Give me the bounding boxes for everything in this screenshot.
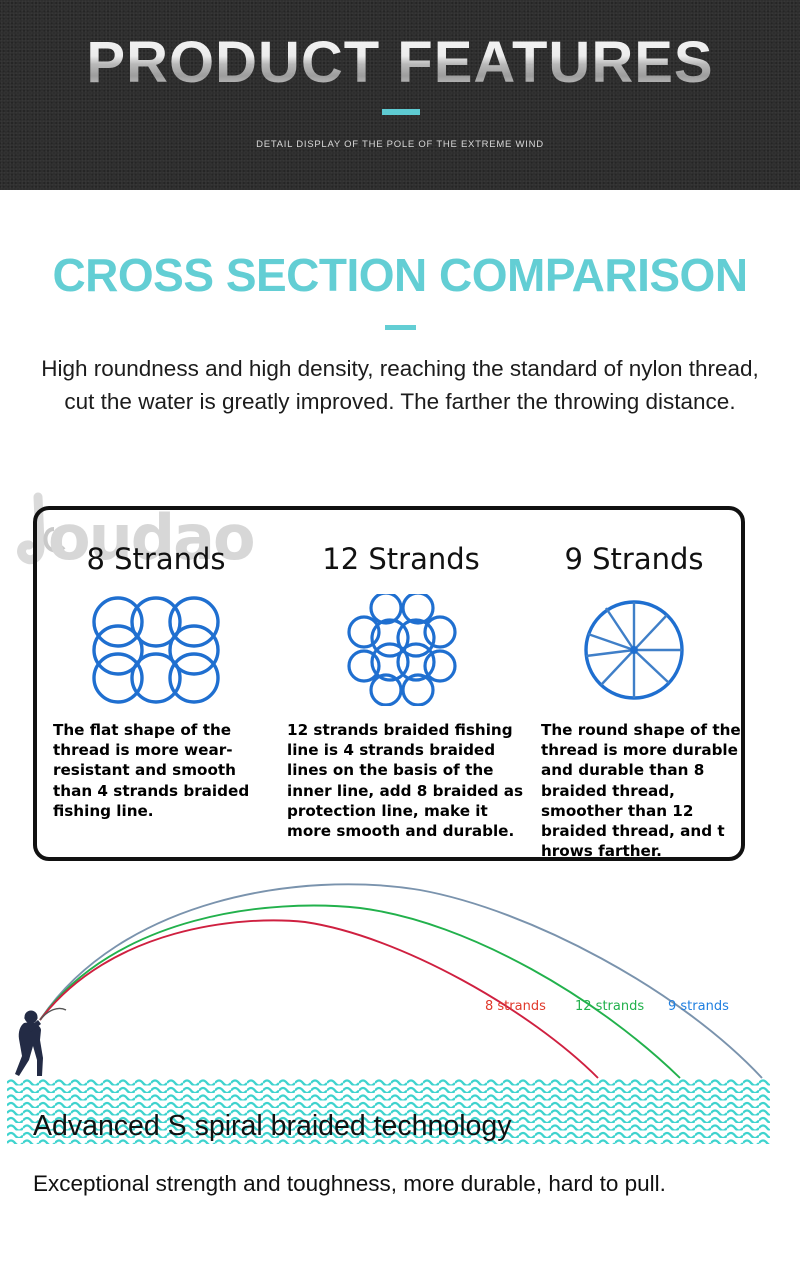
panel-8-strands: 8 Strands The flat shape of the thread i… bbox=[37, 510, 275, 857]
section-description: High roundness and high density, reachin… bbox=[40, 352, 760, 418]
cross-section-comparison-box: 8 Strands The flat shape of the thread i… bbox=[33, 506, 745, 861]
product-feature-page: PRODUCT FEATURES DETAIL DISPLAY OF THE P… bbox=[0, 0, 800, 1265]
page-title: PRODUCT FEATURES bbox=[0, 34, 800, 92]
panel-9-strands: 9 Strands bbox=[527, 510, 741, 857]
header-subtitle: DETAIL DISPLAY OF THE POLE OF THE EXTREM… bbox=[0, 139, 800, 150]
panel-text-9-strands: The round shape of the thread is more du… bbox=[541, 720, 741, 861]
panel-text-12-strands: 12 strands braided fishing line is 4 str… bbox=[287, 720, 525, 841]
page-header: PRODUCT FEATURES DETAIL DISPLAY OF THE P… bbox=[0, 0, 800, 190]
casting-distance-chart bbox=[0, 860, 800, 1100]
nine-strand-spoke-icon bbox=[527, 594, 741, 711]
eight-strand-grid-icon bbox=[37, 594, 275, 711]
section-divider bbox=[385, 325, 416, 330]
legend-12-strands: 12 strands bbox=[575, 999, 644, 1014]
curve-12-strands bbox=[40, 906, 680, 1078]
curve-9-strands bbox=[40, 884, 762, 1078]
header-divider bbox=[382, 109, 420, 115]
panel-title-8-strands: 8 Strands bbox=[37, 542, 275, 576]
panel-title-12-strands: 12 Strands bbox=[275, 542, 527, 576]
legend-8-strands: 8 strands bbox=[485, 999, 546, 1014]
panel-text-8-strands: The flat shape of the thread is more wea… bbox=[53, 720, 263, 821]
panel-12-strands: 12 Strands 12 strands braided fishing li… bbox=[275, 510, 527, 857]
footer-description: Exceptional strength and toughness, more… bbox=[33, 1160, 778, 1208]
fisherman-icon bbox=[15, 1011, 43, 1077]
footer-heading: Advanced S spiral braided technology bbox=[33, 1110, 511, 1143]
panel-title-9-strands: 9 Strands bbox=[527, 542, 741, 576]
twelve-strand-ring-icon bbox=[275, 594, 527, 711]
section-title: CROSS SECTION COMPARISON bbox=[0, 252, 800, 298]
legend-9-strands: 9 strands bbox=[668, 999, 729, 1014]
